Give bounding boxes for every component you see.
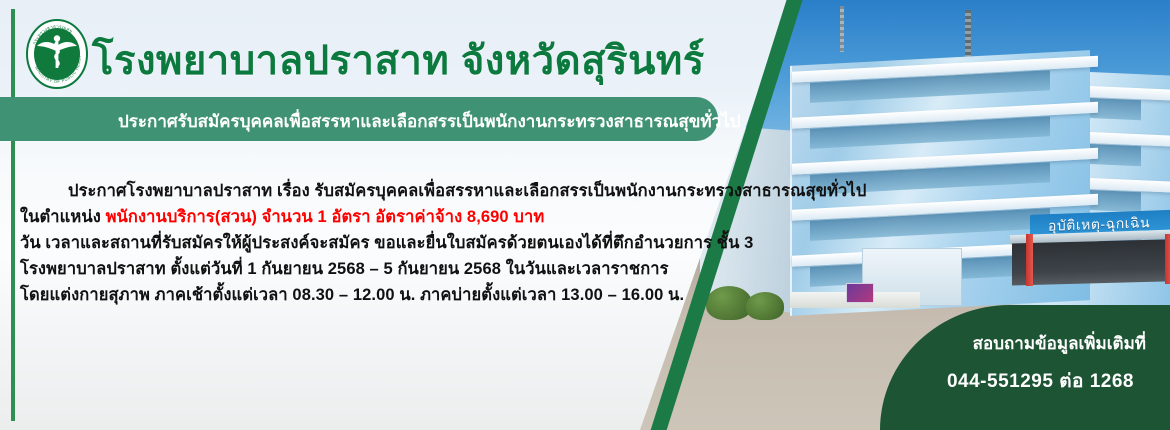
contact-phone-number[interactable]: 044-551295 ต่อ 1268 — [947, 366, 1134, 396]
photo-canopy-pillar-right — [1165, 234, 1170, 284]
organization-title: โรงพยาบาลปราสาท จังหวัดสุรินทร์ — [92, 28, 705, 92]
left-frame-border — [11, 9, 15, 421]
photo-led-sign — [846, 283, 874, 303]
photo-parked-vehicles — [1012, 239, 1170, 286]
ministry-of-public-health-emblem: กระทรวงสาธารณสุข MINISTRY OF PUBLIC HEAL… — [24, 18, 90, 90]
announcement-banner-text: ประกาศรับสมัครบุคคลเพื่อสรรหาและเลือกสรร… — [118, 108, 741, 135]
announcement-line-1: ประกาศโรงพยาบาลปราสาท เรื่อง รับสมัครบุค… — [20, 178, 760, 204]
announcement-line-2: ในตำแหน่ง พนักงานบริการ(สวน) จำนวน 1 อัต… — [20, 204, 760, 230]
announcement-body: ประกาศโรงพยาบาลปราสาท เรื่อง รับสมัครบุค… — [20, 178, 760, 308]
photo-canopy-pillar — [1026, 234, 1033, 286]
announcement-line-2-prefix: ในตำแหน่ง — [20, 208, 106, 226]
contact-label: สอบถามข้อมูลเพิ่มเติมที่ — [973, 330, 1146, 357]
job-announcement-poster: อุบัติเหตุ-ฉุกเฉิน — [0, 0, 1170, 430]
announcement-line-3: วัน เวลาและสถานที่รับสมัครให้ผู้ประสงค์จ… — [20, 230, 760, 256]
announcement-line-5: โดยแต่งกายสุภาพ ภาคเช้าตั้งแต่เวลา 08.30… — [20, 282, 760, 308]
photo-antenna-tower-secondary — [840, 6, 844, 52]
position-and-wage-highlight: พนักงานบริการ(สวน) จำนวน 1 อัตรา อัตราค่… — [106, 208, 545, 226]
announcement-line-4: โรงพยาบาลปราสาท ตั้งแต่วันที่ 1 กันยายน … — [20, 256, 760, 282]
